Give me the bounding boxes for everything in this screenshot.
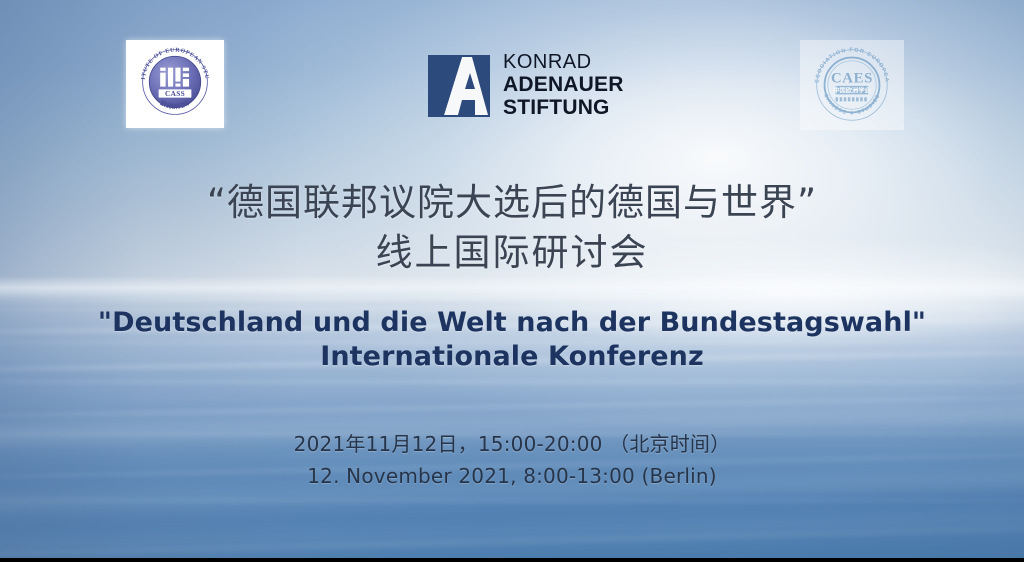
date-line-chinese: 2021年11月12日，15:00-20:00 （北京时间） bbox=[0, 428, 1024, 460]
kas-line-1: KONRAD bbox=[503, 52, 624, 74]
title-chinese: “德国联邦议院大选后的德国与世界” 线上国际研讨会 bbox=[0, 178, 1024, 278]
konrad-adenauer-stiftung-logo: KONRAD ADENAUER STIFTUNG bbox=[428, 52, 624, 120]
date-line-german: 12. November 2021, 8:00-13:00 (Berlin) bbox=[0, 460, 1024, 492]
kas-wordmark: KONRAD ADENAUER STIFTUNG bbox=[503, 52, 624, 120]
conference-title-slide: INSTITUTE OF EUROPEAN STUDIES 欧洲研究所 bbox=[0, 0, 1024, 562]
kas-line-3: STIFTUNG bbox=[503, 97, 624, 120]
letterbox-bottom bbox=[0, 558, 1024, 562]
title-chinese-line-1: “德国联邦议院大选后的德国与世界” bbox=[0, 178, 1024, 228]
title-german-line-2: Internationale Konferenz bbox=[0, 340, 1024, 374]
caes-logo: ASSOCIATION FOR EUROPEAN CHINESE ★ STUDI… bbox=[800, 40, 904, 130]
logo-row: INSTITUTE OF EUROPEAN STUDIES 欧洲研究所 bbox=[0, 0, 1024, 150]
ies-cass-logo: INSTITUTE OF EUROPEAN STUDIES 欧洲研究所 bbox=[126, 40, 224, 128]
svg-text:中国欧洲学会: 中国欧洲学会 bbox=[833, 87, 871, 95]
title-german-line-1: "Deutschland und die Welt nach der Bunde… bbox=[0, 306, 1024, 340]
svg-text:CASS: CASS bbox=[165, 89, 185, 98]
kas-line-2: ADENAUER bbox=[503, 74, 624, 97]
ies-cass-seal-icon: INSTITUTE OF EUROPEAN STUDIES 欧洲研究所 bbox=[136, 43, 214, 121]
svg-text:CAES: CAES bbox=[831, 71, 873, 87]
date-block: 2021年11月12日，15:00-20:00 （北京时间） 12. Novem… bbox=[0, 428, 1024, 492]
title-german: "Deutschland und die Welt nach der Bunde… bbox=[0, 306, 1024, 374]
title-chinese-line-2: 线上国际研讨会 bbox=[0, 228, 1024, 278]
caes-seal-icon: ASSOCIATION FOR EUROPEAN CHINESE ★ STUDI… bbox=[811, 44, 893, 126]
kas-mark-icon bbox=[428, 55, 490, 117]
